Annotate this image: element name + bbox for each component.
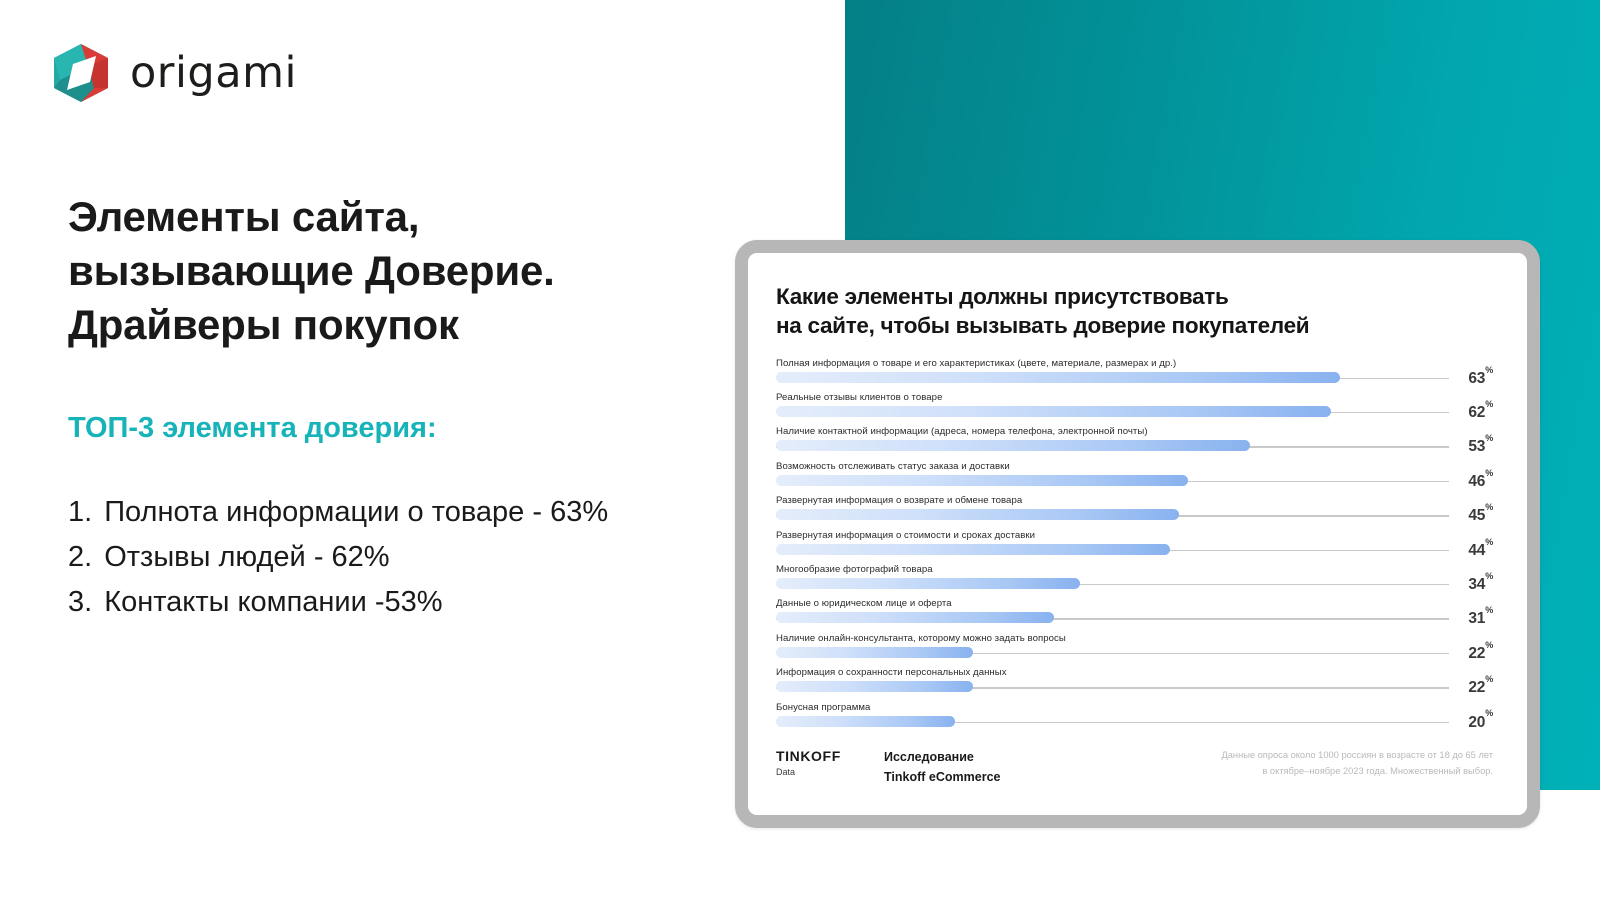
chart-title-line-2: на сайте, чтобы вызывать доверие покупат…: [776, 312, 1466, 341]
bar-row-value: 53%: [1468, 437, 1493, 456]
list-item-label: Контакты компании -53%: [104, 582, 688, 623]
bar-row-label: Многообразие фотографий товара: [776, 564, 933, 575]
bar-chart-row: Бонусная программа20%: [776, 702, 1493, 736]
bar-chart-row: Информация о сохранности персональных да…: [776, 667, 1493, 701]
bar-row-label: Наличие контактной информации (адреса, н…: [776, 426, 1148, 437]
bar-row-label: Развернутая информация о стоимости и сро…: [776, 530, 1035, 541]
bar-row-label: Возможность отслеживать статус заказа и …: [776, 461, 1010, 472]
bar-chart-row: Многообразие фотографий товара34%: [776, 564, 1493, 598]
tinkoff-brand-sub: Data: [776, 767, 884, 777]
origami-logo: origami: [48, 40, 297, 106]
study-label: Исследование: [884, 748, 1114, 767]
study-credit: Исследование Tinkoff eCommerce: [884, 748, 1114, 787]
bar-row-fill: [776, 475, 1188, 486]
bar-chart-row: Возможность отслеживать статус заказа и …: [776, 461, 1493, 495]
methodology-note-line-1: Данные опроса около 1000 россиян в возра…: [1221, 748, 1493, 763]
bar-row-value: 46%: [1468, 472, 1493, 491]
bar-row-fill: [776, 612, 1054, 623]
bar-row-fill: [776, 509, 1179, 520]
origami-logo-text: origami: [130, 48, 297, 98]
bar-row-fill: [776, 544, 1170, 555]
bar-row-fill: [776, 647, 973, 658]
bar-chart-row: Наличие контактной информации (адреса, н…: [776, 426, 1493, 460]
bar-chart-rows: Полная информация о товаре и его характе…: [776, 358, 1493, 736]
bar-row-value: 22%: [1468, 644, 1493, 663]
bar-row-value: 22%: [1468, 678, 1493, 697]
bar-row-value: 44%: [1468, 541, 1493, 560]
methodology-note-line-2: в октябре–ноябре 2023 года. Множественны…: [1221, 764, 1493, 779]
subheading: ТОП-3 элемента доверия:: [68, 412, 708, 445]
chart-card-body: Какие элементы должны присутствовать на …: [748, 253, 1527, 815]
bar-row-label: Развернутая информация о возврате и обме…: [776, 495, 1022, 506]
bar-row-fill: [776, 406, 1331, 417]
top3-list: 1. Полнота информации о товаре - 63% 2. …: [68, 492, 688, 628]
list-item-number: 1.: [68, 492, 92, 533]
methodology-note: Данные опроса около 1000 россиян в возра…: [1221, 748, 1493, 779]
bar-chart-row: Реальные отзывы клиентов о товаре62%: [776, 392, 1493, 426]
list-item-label: Полнота информации о товаре - 63%: [104, 492, 688, 533]
bar-row-fill: [776, 716, 955, 727]
bar-chart-row: Полная информация о товаре и его характе…: [776, 358, 1493, 392]
chart-footer: TINKOFF Data Исследование Tinkoff eComme…: [776, 748, 1493, 787]
list-item-number: 2.: [68, 537, 92, 578]
chart-card: Какие элементы должны присутствовать на …: [735, 240, 1540, 828]
headline-line-1: Элементы сайта,: [68, 190, 728, 244]
bar-row-value: 34%: [1468, 575, 1493, 594]
tinkoff-brand-name: TINKOFF: [776, 748, 884, 764]
bar-row-fill: [776, 440, 1250, 451]
chart-title: Какие элементы должны присутствовать на …: [776, 283, 1466, 341]
list-item: 1. Полнота информации о товаре - 63%: [68, 492, 688, 533]
bar-row-label: Данные о юридическом лице и оферта: [776, 598, 952, 609]
bar-chart-row: Наличие онлайн-консультанта, которому мо…: [776, 633, 1493, 667]
list-item: 2. Отзывы людей - 62%: [68, 537, 688, 578]
bar-row-label: Полная информация о товаре и его характе…: [776, 358, 1176, 369]
bar-chart-row: Развернутая информация о стоимости и сро…: [776, 530, 1493, 564]
bar-row-label: Наличие онлайн-консультанта, которому мо…: [776, 633, 1066, 644]
list-item-label: Отзывы людей - 62%: [104, 537, 688, 578]
bar-row-value: 62%: [1468, 403, 1493, 422]
bar-row-value: 20%: [1468, 713, 1493, 732]
tinkoff-brand: TINKOFF Data: [776, 748, 884, 777]
origami-cube-logo-icon: [48, 40, 114, 106]
study-name: Tinkoff eCommerce: [884, 768, 1114, 787]
bar-chart-row: Данные о юридическом лице и оферта31%: [776, 598, 1493, 632]
bar-row-value: 31%: [1468, 609, 1493, 628]
list-item-number: 3.: [68, 582, 92, 623]
bar-row-fill: [776, 681, 973, 692]
bar-row-fill: [776, 372, 1340, 383]
bar-chart-row: Развернутая информация о возврате и обме…: [776, 495, 1493, 529]
page-title: Элементы сайта, вызывающие Доверие. Драй…: [68, 190, 728, 351]
bar-row-label: Бонусная программа: [776, 702, 870, 713]
bar-row-value: 63%: [1468, 369, 1493, 388]
slide: origami Элементы сайта, вызывающие Довер…: [0, 0, 1600, 900]
bar-row-fill: [776, 578, 1080, 589]
headline-line-3: Драйверы покупок: [68, 298, 728, 352]
headline-line-2: вызывающие Доверие.: [68, 244, 728, 298]
list-item: 3. Контакты компании -53%: [68, 582, 688, 623]
bar-row-label: Информация о сохранности персональных да…: [776, 667, 1007, 678]
bar-row-value: 45%: [1468, 506, 1493, 525]
bar-row-label: Реальные отзывы клиентов о товаре: [776, 392, 942, 403]
chart-title-line-1: Какие элементы должны присутствовать: [776, 283, 1466, 312]
